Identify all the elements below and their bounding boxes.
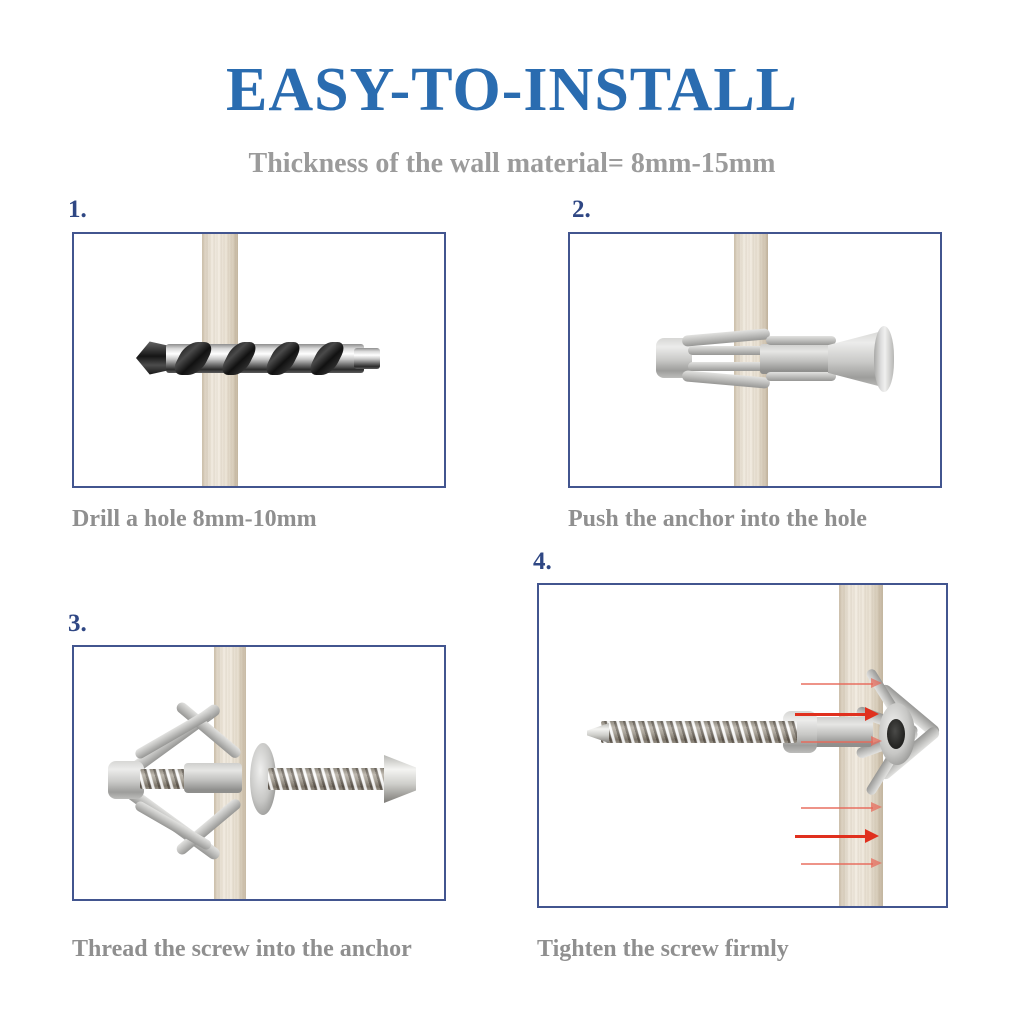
force-arrow: [795, 713, 867, 716]
step-caption-3: Thread the screw into the anchor: [72, 936, 412, 963]
anchor-expanded-leg: [134, 709, 213, 761]
anchor-leg: [766, 372, 836, 381]
force-arrow-faint-head: [871, 678, 882, 688]
instruction-sheet: EASY-TO-INSTALL Thickness of the wall ma…: [0, 0, 1024, 1024]
step-panel-1: [72, 232, 446, 488]
force-arrow-faint: [801, 807, 873, 809]
step-number-4: 4.: [533, 548, 552, 576]
anchor-leg: [688, 346, 768, 355]
force-arrow-faint: [801, 863, 873, 865]
anchor-nose: [108, 761, 144, 799]
step-caption-1: Drill a hole 8mm-10mm: [72, 506, 317, 533]
force-arrow-faint-head: [871, 736, 882, 746]
screw-shaft: [268, 768, 390, 790]
screw-tip: [587, 723, 609, 743]
force-arrow-head: [865, 707, 879, 721]
step-number-1: 1.: [68, 196, 87, 224]
step-caption-2: Push the anchor into the hole: [568, 506, 867, 533]
step-caption-4: Tighten the screw firmly: [537, 936, 789, 963]
anchor-leg: [688, 362, 768, 371]
force-arrow-faint-head: [871, 802, 882, 812]
screw-shaft: [601, 721, 797, 743]
force-arrow-head: [865, 829, 879, 843]
anchor-leg: [766, 336, 836, 345]
force-arrow: [795, 835, 867, 838]
step-panel-2: [568, 232, 942, 488]
force-arrow-faint: [801, 683, 873, 685]
screw-head-recess: [887, 719, 905, 749]
drill-bit-shaft-end: [354, 348, 380, 369]
step-number-3: 3.: [68, 610, 87, 638]
page-title: EASY-TO-INSTALL: [0, 58, 1024, 123]
force-arrow-faint-head: [871, 858, 882, 868]
anchor-body: [184, 763, 242, 793]
page-subtitle: Thickness of the wall material= 8mm-15mm: [0, 148, 1024, 180]
anchor-flange: [874, 326, 894, 392]
anchor-body: [760, 344, 836, 374]
step-number-2: 2.: [572, 196, 591, 224]
screw-head: [384, 755, 416, 803]
step-panel-4: [537, 583, 948, 908]
force-arrow-faint: [801, 741, 873, 743]
step-panel-3: [72, 645, 446, 901]
